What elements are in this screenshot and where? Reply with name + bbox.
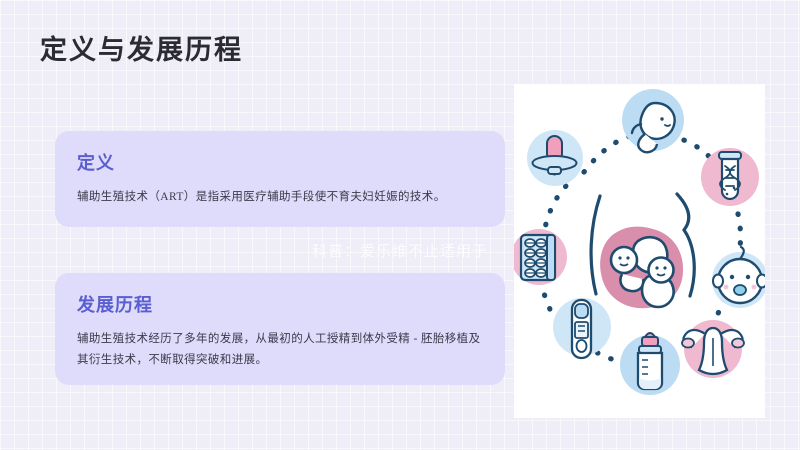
fertility-concept-illustration bbox=[514, 84, 765, 418]
dna-test-tube-icon bbox=[701, 148, 759, 206]
baby-face-icon bbox=[712, 247, 765, 308]
slide-canvas: 定义与发展历程 定义 辅助生殖技术（ART）是指采用医疗辅助手段使不育夫妇妊娠的… bbox=[0, 0, 800, 450]
pacifier-icon bbox=[527, 130, 583, 186]
baby-bottle-icon bbox=[620, 333, 680, 395]
card-body-definition: 辅助生殖技术（ART）是指采用医疗辅助手段使不育夫妇妊娠的技术。 bbox=[77, 187, 483, 208]
page-title: 定义与发展历程 bbox=[40, 28, 243, 67]
pregnancy-test-icon bbox=[553, 298, 611, 358]
fetus-icon bbox=[622, 89, 684, 152]
content-card-history: 发展历程 辅助生殖技术经历了多年的发展，从最初的人工授精到体外受精 - 胚胎移植… bbox=[55, 273, 505, 385]
watermark-text: 科普：爱乐维不止适用于 bbox=[312, 240, 488, 261]
illustration-panel bbox=[514, 84, 765, 418]
uterus-icon bbox=[682, 320, 744, 378]
pill-blister-icon bbox=[514, 229, 567, 285]
card-title-history: 发展历程 bbox=[77, 291, 483, 317]
card-title-definition: 定义 bbox=[77, 149, 483, 175]
card-body-history: 辅助生殖技术经历了多年的发展，从最初的人工授精到体外受精 - 胚胎移植及其衍生技… bbox=[77, 329, 483, 371]
content-card-definition: 定义 辅助生殖技术（ART）是指采用医疗辅助手段使不育夫妇妊娠的技术。 bbox=[55, 131, 505, 227]
